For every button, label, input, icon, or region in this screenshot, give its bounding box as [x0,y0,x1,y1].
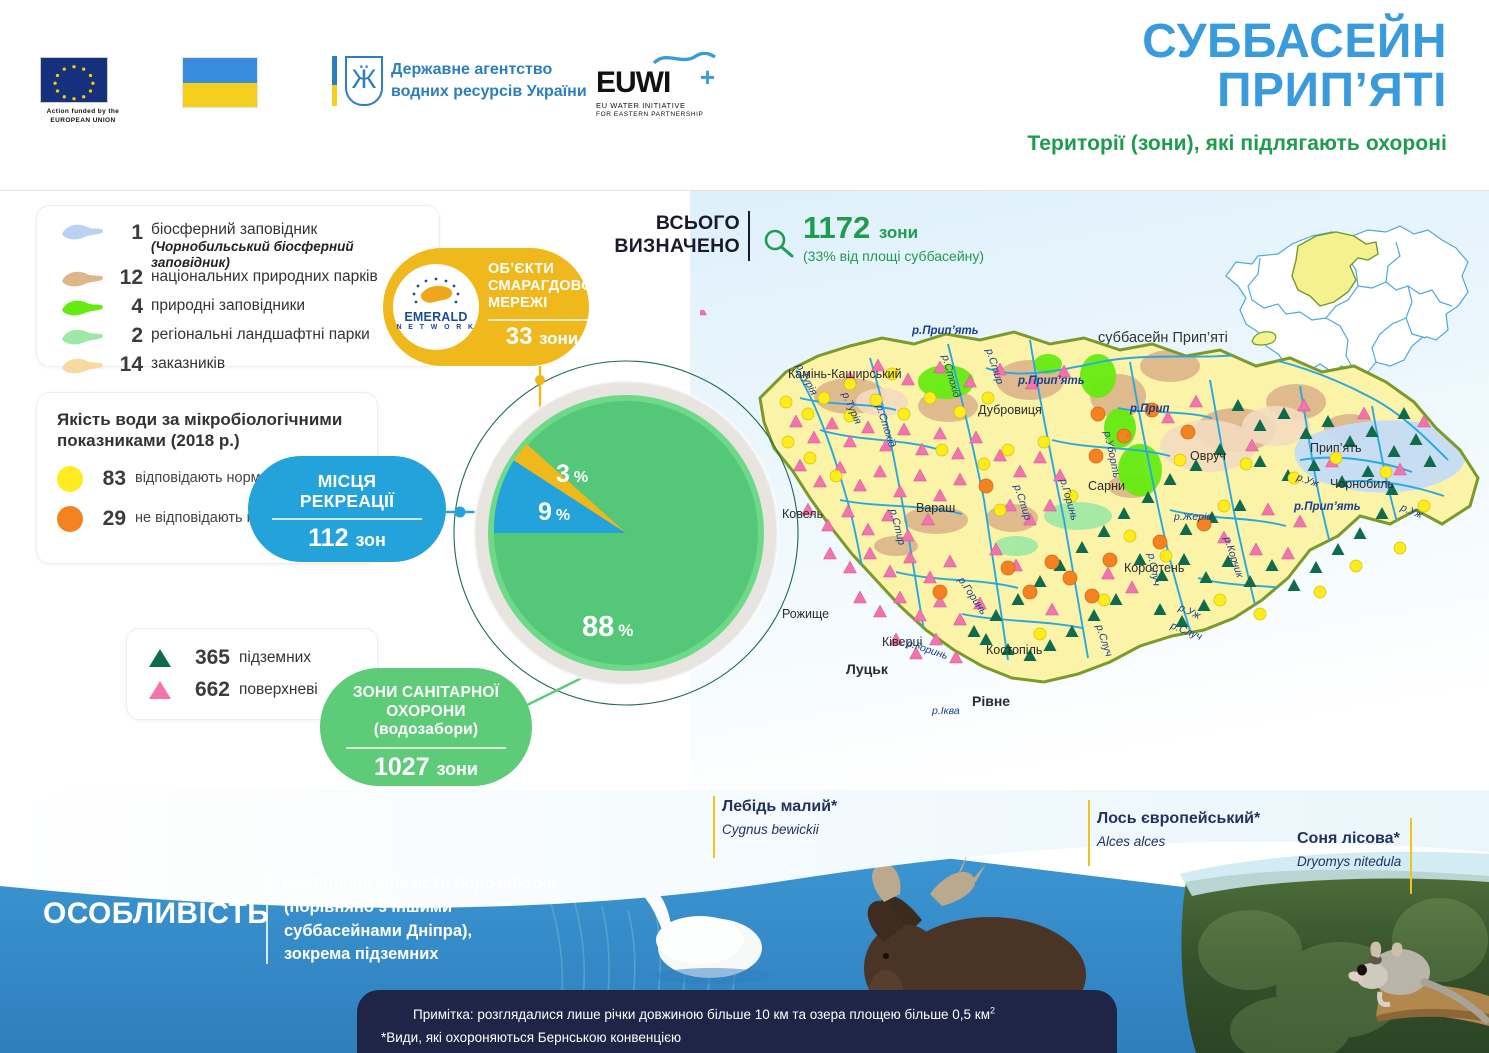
moose-callout-line [1088,800,1090,866]
eu-funding-caption: Action funded by the EUROPEAN UNION [38,108,128,126]
euwi-logo: EUWI + EU WATER INITIATIVE FOR EASTERN P… [596,52,716,118]
legend-count-nature-reserves: 4 [111,295,151,319]
euwi-subtitle1: EU WATER INITIATIVE [596,101,716,110]
agency-name: Державне агентство водних ресурсів Украї… [391,59,587,102]
legend-label-biosphere: біосферний заповідник [151,221,317,238]
page-title: СУББАСЕЙН ПРИП’ЯТІ Території (зони), які… [1027,18,1447,156]
sanitary-value-unit: зони [437,759,478,779]
swan-latin: Cygnus bewickii [722,822,819,837]
svg-text:Дубровиця: Дубровиця [978,403,1042,417]
swan-callout-line [713,796,715,858]
trident-icon: Ӝ [345,56,383,106]
emerald-bubble-content: ОБ’ЄКТИ СМАРАГДОВОЇ МЕРЕЖІ 33 зони [479,261,597,352]
swan-name: Лебідь малий* [722,798,837,816]
surface-count: 662 [181,678,239,702]
landscape-park-swatch-icon [59,326,111,346]
agency-bar-icon [332,56,337,106]
emerald-logo-graphic [393,274,479,320]
emerald-logo-text2: N E T W O R K [396,324,475,331]
total-value-number: 1172 [803,210,870,245]
state-water-agency-logo: Ӝ Державне агентство водних ресурсів Укр… [332,56,587,106]
compliant-dot-icon [57,466,83,492]
legend-label-zakaznyky: заказників [151,355,225,373]
compliant-count: 83 [83,467,135,491]
feature-text-line1: найбільша кількість водозаборів [284,872,614,896]
total-value: 1172 зони [803,210,918,246]
recreation-label-line1: МІСЦЯ [248,472,446,492]
footnote-superscript: 2 [990,1006,995,1016]
title-line-1: СУББАСЕЙН [1027,18,1447,67]
legend-item-zakaznyky: 14 заказників [59,350,423,379]
ua-flag-blue [183,58,257,83]
legend-item-nature-reserves: 4 природні заповідники [59,292,423,321]
footnote-box: Примітка: розглядалися лише річки довжин… [357,990,1117,1053]
total-words-line1: ВСЬОГО [600,212,740,235]
page-subtitle: Території (зони), які підлягають охороні [1027,132,1447,156]
feature-label: ОСОБЛИВІСТЬ [43,897,269,931]
total-note: (33% від площі суббасейну) [803,248,984,264]
sanitary-label-line3: (водозабори) [320,721,532,740]
total-words-line2: ВИЗНАЧЕНО [600,235,740,258]
euwi-main-text: EUWI [596,66,670,99]
legend-count-landscape-parks: 2 [111,324,151,348]
european-union-flag-icon [40,57,108,103]
eu-stars-icon [41,58,107,103]
svg-text:Костопіль: Костопіль [986,643,1042,657]
recreation-value-unit: зон [355,530,385,550]
moose-latin: Alces alces [1097,834,1165,849]
noncompliant-dot-icon [57,506,83,532]
zakaznyk-swatch-icon [59,355,111,375]
svg-text:Вараш: Вараш [916,501,955,515]
sanitary-value-number: 1027 [374,753,430,781]
legend-text-biosphere: біосферний заповідник (Чорнобильський бі… [151,221,423,271]
svg-text:Рівне: Рівне [972,693,1010,709]
recreation-value: 112 зон [248,524,446,553]
emerald-network-bubble[interactable]: EMERALD N E T W O R K ОБ’ЄКТИ СМАРАГДОВО… [383,248,589,366]
surface-triangle-icon [147,679,181,701]
emerald-bubble-divider [488,319,596,321]
magnifier-icon [762,228,796,258]
water-quality-title: Якість води за мікробіологічними показни… [57,409,361,452]
biosphere-swatch-icon [59,221,111,241]
recreation-value-number: 112 [308,524,348,552]
sanitary-zones-bubble[interactable]: ЗОНИ САНІТАРНОЇ ОХОРОНИ (водозабори) 102… [320,668,532,786]
dormouse-latin: Dryomys nitedula [1297,854,1401,869]
recreation-divider [272,518,422,520]
emerald-bubble-value: 33 зони [488,323,596,351]
recreation-bubble[interactable]: МІСЦЯ РЕКРЕАЦІЇ 112 зон [248,456,446,562]
feature-text-line2: (порівняно з іншими [284,896,614,920]
legend-label-landscape-parks: регіональні ландшафтні парки [151,326,370,344]
svg-text:р.Жерів: р.Жерів [1173,511,1212,523]
footnote-line1-text: Примітка: розглядалися лише річки довжин… [413,1007,990,1022]
legend-item-landscape-parks: 2 регіональні ландшафтні парки [59,321,423,350]
legend-count-biosphere: 1 [111,221,151,245]
svg-text:Луцьк: Луцьк [846,661,889,677]
feature-divider [266,872,268,964]
svg-text:Чорнобиль: Чорнобиль [1330,477,1394,491]
sanitary-label-line1: ЗОНИ САНІТАРНОЇ [320,684,532,703]
nature-reserve-swatch-icon [59,297,111,317]
svg-text:р.Іква: р.Іква [931,705,960,717]
protected-areas-legend-panel: 1 біосферний заповідник (Чорнобильський … [36,205,440,367]
svg-text:Овруч: Овруч [1190,449,1226,463]
title-line-2: ПРИП’ЯТІ [1027,67,1447,116]
footnote-line1: Примітка: розглядалися лише річки довжин… [381,1003,1097,1026]
legend-label-nature-reserves: природні заповідники [151,297,305,315]
svg-text:р.Прип’ять: р.Прип’ять [1017,375,1085,387]
svg-text:р.Прип: р.Прип [1129,403,1170,415]
ua-flag-yellow [183,83,257,108]
dormouse-callout-line [1410,818,1412,894]
surface-label: поверхневі [239,681,318,699]
svg-text:Прип’ять: Прип’ять [1310,441,1361,455]
underground-label: підземних [239,649,311,667]
recreation-label-line2: РЕКРЕАЦІЇ [248,492,446,512]
agency-line1: Державне агентство [391,59,587,81]
sanitary-divider [346,747,506,749]
svg-text:Сарни: Сарни [1088,479,1125,493]
dormouse-name: Соня лісова* [1297,830,1400,848]
header-logos: Action funded by the EUROPEAN UNION Ӝ Де… [0,0,800,190]
protected-zones-pie-chart: 3% 9% 88% [470,372,782,694]
feature-text: найбільша кількість водозаборів (порівня… [284,872,614,967]
feature-text-line4: зокрема підземних [284,943,614,967]
legend-item-biosphere: 1 біосферний заповідник (Чорнобильський … [59,218,423,263]
prypiat-subbasin-detail-map: Камінь-Каширський Любомль Ковель Рожище … [700,310,1489,790]
total-value-unit: зони [879,223,918,242]
svg-text:Рожище: Рожище [782,607,829,621]
legend-count-zakaznyky: 14 [111,353,151,377]
svg-text:р.Прип’ять: р.Прип’ять [1293,501,1361,513]
agency-line2: водних ресурсів України [391,81,587,103]
sanitary-value: 1027 зони [320,753,532,782]
legend-note-biosphere: (Чорнобильський біосферний заповідник) [151,239,423,271]
sanitary-label-line2: ОХОРОНИ [320,703,532,722]
total-vertical-rule [748,211,750,261]
euwi-wordmark: EUWI + [596,68,716,98]
national-park-swatch-icon [59,268,111,288]
total-determined-words: ВСЬОГО ВИЗНАЧЕНО [600,212,740,258]
noncompliant-count: 29 [83,507,135,531]
moose-name: Лось європейський* [1097,810,1260,828]
svg-text:р.Прип’ять: р.Прип’ять [911,325,979,337]
emerald-value-unit: зони [539,329,578,348]
ukraine-flag-icon [182,57,258,108]
emerald-bubble-label: ОБ’ЄКТИ СМАРАГДОВОЇ МЕРЕЖІ [488,261,597,311]
infographic-root: Action funded by the EUROPEAN UNION Ӝ Де… [0,0,1489,1053]
emerald-value-number: 33 [506,323,533,350]
underground-count: 365 [181,646,239,670]
feature-text-line3: суббасейнами Дніпра), [284,920,614,944]
total-determined-block: ВСЬОГО ВИЗНАЧЕНО 1172 зони (33% від площ… [600,210,1020,280]
euwi-subtitle2: FOR EASTERN PARTNERSHIP [596,111,716,118]
footnote-line2: *Види, які охороняються Бернською конвен… [381,1026,1097,1049]
svg-text:Ковель: Ковель [782,507,823,521]
eu-caption-line2: EUROPEAN UNION [38,117,128,126]
underground-triangle-icon [147,647,181,669]
legend-count-national-parks: 12 [111,266,151,290]
legend-label-national-parks: національних природних парків [151,268,378,286]
euwi-plus-icon: + [700,64,714,90]
intake-item-underground: 365 підземних [147,642,367,674]
eu-caption-line1: Action funded by the [38,108,128,117]
emerald-network-logo-icon: EMERALD N E T W O R K [393,264,479,350]
